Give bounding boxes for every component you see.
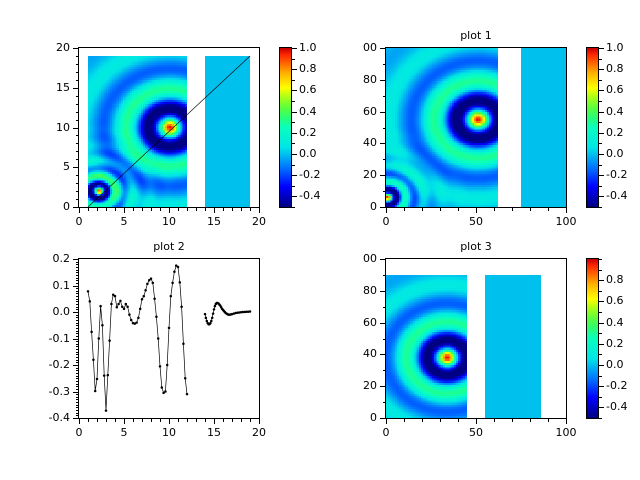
y-tick-minor (383, 339, 386, 340)
y-tick-major (380, 323, 385, 324)
x-tick-minor (530, 419, 531, 422)
colorbar-tick-minor (599, 291, 602, 292)
colorbar-tick-major (599, 407, 604, 408)
heatmap-block-a (386, 275, 467, 418)
colorbar-tick-minor (599, 270, 602, 271)
y-tick-major (380, 386, 385, 387)
colorbar-tick-major (599, 344, 604, 345)
x-tick-major (566, 419, 567, 424)
chart-title: plot 3 (385, 240, 567, 253)
y-tick-label: 80 (331, 284, 377, 297)
colorbar-tick-minor (599, 376, 602, 377)
colorbar-tick-minor (599, 418, 602, 419)
panel-plot3: plot 3050100020406080000.80.60.40.20.0-0… (0, 0, 640, 480)
colorbar-tick-minor (599, 259, 602, 260)
heatmap-canvas (485, 275, 541, 418)
heatmap-block-b (485, 275, 541, 418)
colorbar-tick-major (599, 365, 604, 366)
y-tick-major (380, 418, 385, 419)
colorbar-tick-major (599, 301, 604, 302)
colorbar-tick-minor (599, 333, 602, 334)
y-tick-minor (383, 275, 386, 276)
axes-plot3[interactable] (385, 258, 567, 419)
colorbar-tick-major (599, 280, 604, 281)
y-tick-label: 00 (331, 252, 377, 265)
colorbar-tick-minor (599, 312, 602, 313)
x-tick-major (386, 419, 387, 424)
y-tick-label: 40 (331, 347, 377, 360)
colorbar-tick-major (599, 386, 604, 387)
figure-canvas: 05101520051015201.00.80.60.40.20.0-0.2-0… (0, 0, 640, 480)
x-tick-minor (422, 419, 423, 422)
colorbar-tick-label: -0.4 (606, 400, 627, 413)
y-tick-major (380, 354, 385, 355)
colorbar-tick-major (599, 323, 604, 324)
x-tick-minor (494, 419, 495, 422)
x-tick-minor (404, 419, 405, 422)
colorbar-tick-minor (599, 397, 602, 398)
y-tick-minor (383, 402, 386, 403)
colorbar-tick-minor (599, 354, 602, 355)
colorbar-gradient (587, 259, 598, 418)
y-tick-label: 20 (331, 379, 377, 392)
x-tick-minor (440, 419, 441, 422)
y-tick-minor (383, 370, 386, 371)
x-tick-major (476, 419, 477, 424)
colorbar-tick-label: 0.8 (606, 273, 624, 286)
x-tick-minor (548, 419, 549, 422)
colorbar-tick-label: 0.6 (606, 294, 624, 307)
y-tick-minor (383, 307, 386, 308)
x-tick-minor (458, 419, 459, 422)
y-tick-label: 0 (331, 411, 377, 424)
colorbar-plot3[interactable] (586, 258, 599, 419)
x-tick-label: 0 (364, 426, 408, 439)
colorbar-tick-label: 0.2 (606, 337, 624, 350)
colorbar-tick-label: -0.2 (606, 379, 627, 392)
y-tick-major (380, 259, 385, 260)
heatmap-canvas (386, 275, 467, 418)
colorbar-tick-label: 0.4 (606, 316, 624, 329)
x-tick-minor (512, 419, 513, 422)
x-tick-label: 100 (544, 426, 588, 439)
x-tick-label: 50 (454, 426, 498, 439)
y-tick-major (380, 291, 385, 292)
y-tick-label: 60 (331, 316, 377, 329)
colorbar-tick-label: 0.0 (606, 358, 624, 371)
